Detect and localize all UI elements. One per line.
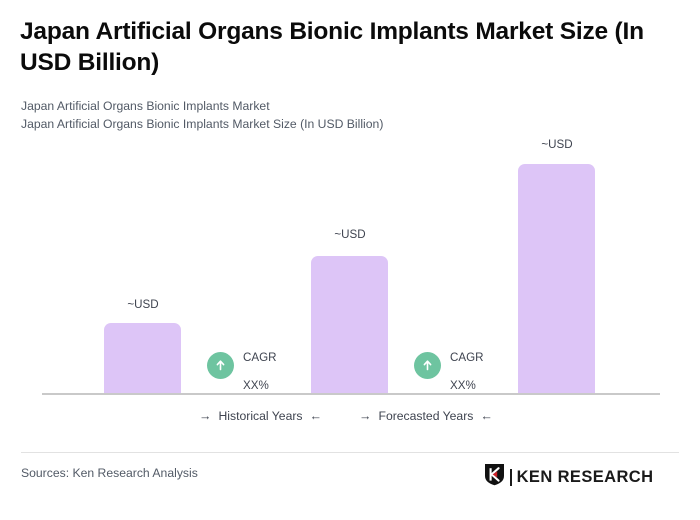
- period-legend: → Historical Years ← → Forecasted Years …: [42, 409, 660, 433]
- logo-divider: [510, 469, 512, 486]
- bar-label-1-line1: ~USD: [127, 298, 158, 311]
- bar-label-2-line1: ~USD: [334, 228, 365, 241]
- period-forecasted: → Forecasted Years ←: [359, 409, 493, 423]
- period-historical: → Historical Years ←: [199, 409, 322, 423]
- sources-text: Sources: Ken Research Analysis: [21, 466, 198, 480]
- axis-baseline: [42, 393, 660, 395]
- cagr-badge-forecasted[interactable]: CAGR XX%: [414, 337, 484, 393]
- cagr-text-forecasted: CAGR XX%: [450, 337, 484, 393]
- logo-wordmark: KEN RESEARCH: [517, 468, 654, 487]
- bar-base[interactable]: [311, 256, 388, 394]
- footer-divider: [21, 452, 679, 453]
- cagr-forecasted-line1: CAGR: [450, 351, 484, 364]
- arrow-right-icon: →: [199, 410, 212, 423]
- cagr-historical-line2: XX%: [243, 379, 269, 392]
- cagr-forecasted-line2: XX%: [450, 379, 476, 392]
- cagr-historical-line1: CAGR: [243, 351, 277, 364]
- arrow-up-icon: [207, 352, 234, 379]
- arrow-left-icon: ←: [480, 410, 493, 423]
- cagr-badge-historical[interactable]: CAGR XX%: [207, 337, 277, 393]
- cagr-text-historical: CAGR XX%: [243, 337, 277, 393]
- arrow-left-icon: ←: [310, 410, 323, 423]
- arrow-up-icon: [414, 352, 441, 379]
- bar-label-3-line1: ~USD: [541, 138, 572, 151]
- period-forecasted-label: Forecasted Years: [379, 409, 474, 423]
- logo-shield-icon: [484, 463, 505, 491]
- bar-chart: ~USD XX Bn CAGR XX% ~USD 2.4 Bn: [0, 0, 700, 440]
- bar-historical[interactable]: [104, 323, 181, 394]
- ken-research-logo: KEN RESEARCH: [484, 463, 653, 491]
- period-historical-label: Historical Years: [219, 409, 303, 423]
- chart-page: Japan Artificial Organs Bionic Implants …: [0, 0, 700, 520]
- arrow-right-icon: →: [359, 410, 372, 423]
- bar-forecasted[interactable]: [518, 164, 595, 394]
